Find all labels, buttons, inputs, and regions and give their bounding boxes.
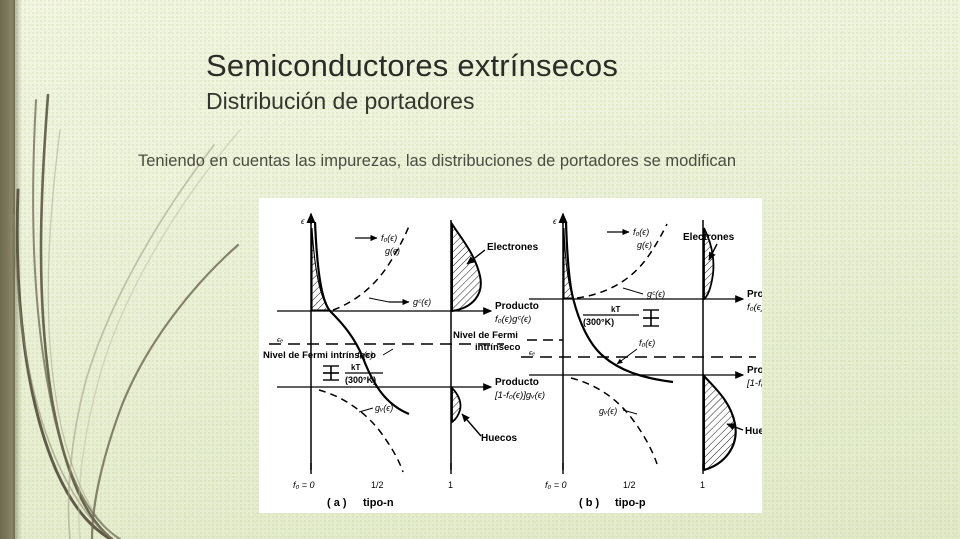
panel-a-y-axis-symbol: ϵ [301, 217, 305, 226]
panel-b-label-electrones: Electrones [683, 232, 735, 243]
panel-b-fermi-level-label-1: Nivel de Fermi [453, 330, 518, 341]
panel-b-caption-text: tipo-p [615, 497, 646, 509]
panel-a-xtick-2: 1 [448, 480, 453, 490]
panel-b-xtick-2: 1 [700, 480, 705, 490]
panel-a-caption-text: tipo-n [363, 497, 394, 509]
body-text: Teniendo en cuentas las impurezas, las d… [138, 152, 736, 171]
panel-b-label-g-top: g(ϵ) [637, 240, 652, 250]
panel-a-fermi-symbol: ϵₑ [277, 335, 283, 344]
panel-b-xtick-0: f₀ = 0 [545, 480, 567, 490]
panel-b-fermi-symbol: ϵₑ [529, 348, 535, 357]
panel-b-label-f0-curve: f₀(ϵ) [639, 338, 655, 348]
panel-a-label-gv: gᵥ(ϵ) [375, 403, 393, 413]
panel-a-xtick-1: 1/2 [371, 480, 384, 490]
panel-b-producto-bottom-1: Producto [747, 365, 762, 376]
panel-b-fermi-level-label-2: intrínseco [475, 342, 521, 353]
panel-a-caption-prefix: ( a ) [327, 497, 347, 509]
panel-b-producto-top-1: Producto [747, 289, 762, 300]
panel-b-caption-prefix: ( b ) [579, 497, 599, 509]
panel-a-kt-numerator: kT [351, 363, 360, 372]
panel-b-kt-denominator: (300°K) [583, 317, 614, 327]
page-title: Semiconductores extrínsecos [206, 48, 618, 84]
panel-a-label-gc: gᶜ(ϵ) [413, 297, 431, 307]
panel-a-label-huecos: Huecos [481, 433, 518, 444]
panel-a-producto-bottom-2: [1-f₀(ϵ)]gᵥ(ϵ) [494, 390, 545, 401]
panel-b-label-huecos: Huecos [745, 426, 762, 437]
panel-a-kt-denominator: (300°K) [345, 375, 376, 385]
panel-a-label-f0-top: f₀(ϵ) [381, 233, 397, 243]
left-accent-bar [0, 0, 15, 539]
panel-a-xtick-0: f₀ = 0 [293, 480, 315, 490]
panel-a-producto-top-2: f₀(ϵ)gᶜ(ϵ) [495, 314, 531, 325]
panel-b-label-gc: gᶜ(ϵ) [647, 289, 665, 299]
panel-a-fermi-level-label: Nivel de Fermi intrínseco [263, 350, 376, 361]
panel-b-producto-bottom-2: [1-f₀(ϵ)]gᵥ(ϵ) [746, 378, 762, 389]
page-subtitle: Distribución de portadores [206, 88, 474, 115]
panel-a-label-g-top: g(ϵ) [385, 246, 400, 256]
panel-b-producto-top-2: f₀(ϵ)gᶜ(ϵ) [747, 302, 762, 313]
panel-b-kt-numerator: kT [611, 305, 620, 314]
panel-a-label-electrones: Electrones [487, 242, 539, 253]
figure-image: ϵ ϵₑ [259, 198, 762, 513]
panel-b-label-f0-top: f₀(ϵ) [633, 227, 649, 237]
panel-b-y-axis-symbol: ϵ [553, 217, 557, 226]
panel-a-producto-bottom-1: Producto [495, 377, 539, 388]
panel-a-producto-top-1: Producto [495, 301, 539, 312]
panel-b-label-gv: gᵥ(ϵ) [599, 406, 617, 416]
panel-b-xtick-1: 1/2 [623, 480, 636, 490]
slide: Semiconductores extrínsecos Distribución… [0, 0, 960, 539]
left-accent-bar-shadow [15, 0, 22, 539]
